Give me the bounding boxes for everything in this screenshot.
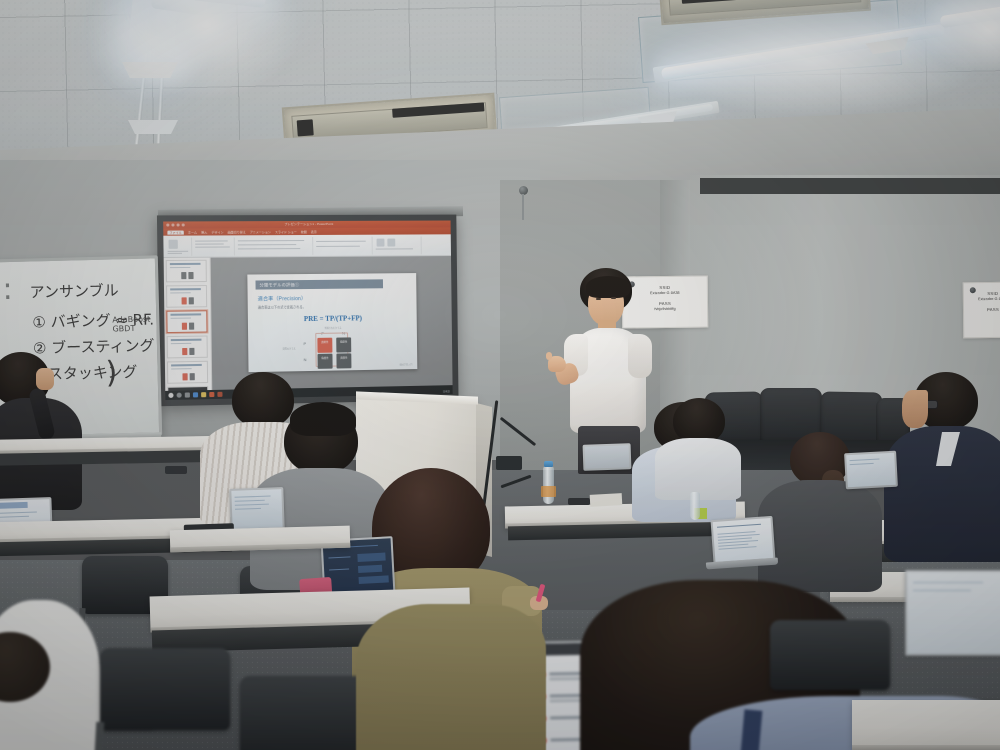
whiteboard-erased-0: SID: bbox=[0, 272, 15, 309]
ppt-slide-thumbnails[interactable] bbox=[164, 258, 213, 391]
slide-content: 分類モデルの評価① 適合率（Precision） 適合率は以下の式で定義される。… bbox=[247, 273, 417, 372]
torso bbox=[655, 438, 741, 500]
matrix-cell-fn-label: 偽陰性 bbox=[321, 357, 328, 360]
presenter-laptop[interactable] bbox=[583, 443, 632, 471]
matrix-row-header-0: P bbox=[303, 341, 306, 346]
wifi-sign-secondary: SSID Extender-G-0A38 PASS bbox=[963, 282, 1000, 339]
whiteboard-bracket-close: ) bbox=[105, 355, 118, 390]
sensor-cable bbox=[522, 194, 524, 220]
matrix-cell-tn: 真陰性 bbox=[336, 353, 351, 368]
matrix-axis-top: 予測されたクラス bbox=[324, 326, 341, 330]
ppt-thumb-4[interactable] bbox=[167, 336, 208, 359]
slide-subtext: 適合率は以下の式で定義される。 bbox=[258, 304, 306, 310]
ppt-tab-8[interactable]: 表示 bbox=[311, 229, 317, 233]
ppt-tab-3[interactable]: デザイン bbox=[211, 230, 223, 234]
classroom-photo: プレゼンテーション1 - PowerPoint ファイル ホーム 挿入 デザイン… bbox=[0, 0, 1000, 750]
ppt-window-title: プレゼンテーション1 - PowerPoint bbox=[284, 222, 333, 226]
water-bottle-1[interactable] bbox=[543, 466, 554, 504]
presenter-eye-right bbox=[611, 297, 616, 299]
desk-foreground-right bbox=[852, 700, 1000, 750]
desk-mid bbox=[170, 526, 351, 553]
paper-sheet bbox=[590, 493, 623, 507]
matrix-cell-fp-label: 偽陽性 bbox=[340, 340, 347, 343]
ppt-slide-canvas: 分類モデルの評価① 適合率（Precision） 適合率は以下の式で定義される。… bbox=[211, 256, 453, 390]
hair-top bbox=[290, 402, 356, 436]
presenter-eye-left bbox=[596, 298, 601, 300]
browser-icon[interactable] bbox=[193, 392, 198, 397]
ppt-tab-6[interactable]: スライド ショー bbox=[275, 230, 297, 234]
start-icon[interactable] bbox=[168, 393, 173, 398]
ppt-thumb-3[interactable] bbox=[166, 310, 207, 333]
slide-heading: 適合率（Precision） bbox=[258, 295, 307, 303]
water-bottle-1-cap bbox=[544, 461, 553, 467]
laptop-center-right[interactable] bbox=[711, 516, 776, 564]
audience-olive-lower bbox=[356, 604, 546, 750]
whiteboard-line-0: アンサンブル bbox=[29, 279, 118, 302]
audience-member-raising-hand bbox=[0, 340, 90, 510]
slide-footer: 機械学習入門 bbox=[400, 362, 413, 366]
face-profile bbox=[902, 390, 928, 428]
ppt-ribbon[interactable] bbox=[163, 234, 451, 258]
ppt-tab-4[interactable]: 画面切り替え bbox=[228, 230, 246, 234]
bottle-label bbox=[541, 486, 556, 497]
wifi-pass-label-2: PASS bbox=[964, 307, 1000, 313]
ppt-status-right: 日本語 bbox=[443, 389, 450, 393]
ppt-tab-2[interactable]: 挿入 bbox=[201, 230, 207, 234]
presenter-fringe bbox=[586, 276, 630, 298]
slide-title: 分類モデルの評価① bbox=[255, 279, 383, 289]
matrix-cell-fp: 偽陽性 bbox=[336, 337, 351, 352]
matrix-cell-tp-label: 真陽性 bbox=[321, 341, 328, 344]
mouse-icon[interactable] bbox=[165, 466, 187, 474]
matrix-cell-fn: 偽陰性 bbox=[318, 354, 333, 369]
taskview-icon[interactable] bbox=[185, 392, 190, 397]
confusion-matrix: 予測されたクラス 実際のクラス P N P N 真陽性 偽陽性 bbox=[310, 327, 376, 368]
ppt-tab-7[interactable]: 校閲 bbox=[301, 230, 307, 234]
desk-left-back-skirt bbox=[0, 450, 210, 466]
water-bottle-2[interactable] bbox=[690, 492, 700, 520]
pin-icon-secondary bbox=[970, 287, 976, 293]
presenter-finger bbox=[546, 352, 552, 360]
presenter-sleeve-right bbox=[628, 334, 652, 378]
search-icon[interactable] bbox=[177, 393, 182, 398]
whiteboard-annotation: AdaBoostGBDT bbox=[112, 315, 150, 334]
ppt-thumb-2[interactable] bbox=[166, 285, 207, 308]
ppt-tab-0[interactable]: ファイル bbox=[167, 230, 183, 234]
raised-hand bbox=[36, 368, 54, 390]
laptop-right-back[interactable] bbox=[844, 451, 898, 490]
laptop-mid-left[interactable] bbox=[229, 487, 284, 531]
smartphone-on-desk[interactable] bbox=[568, 498, 590, 505]
wifi-ssid-value-2: Extender-G-0A38 bbox=[964, 297, 1000, 302]
matrix-axis-left: 実際のクラス bbox=[282, 346, 295, 350]
foreground-person-strap bbox=[740, 709, 763, 750]
ppt-thumb-1[interactable] bbox=[166, 260, 207, 283]
wall-recess-shadow bbox=[700, 178, 1000, 194]
audience-member-whiteshirt-back bbox=[655, 398, 741, 498]
foreground-laptop-right[interactable] bbox=[905, 570, 1000, 656]
foreground-chair-1 bbox=[100, 648, 230, 730]
matrix-cell-tp: 真陽性 bbox=[317, 338, 332, 353]
ppt-tab-1[interactable]: ホーム bbox=[188, 230, 197, 234]
foreground-chair-3 bbox=[770, 620, 890, 690]
audience-member-suit bbox=[890, 372, 1000, 562]
ppt-tab-5[interactable]: アニメーション bbox=[250, 230, 271, 234]
matrix-cell-tn-label: 真陰性 bbox=[340, 356, 347, 359]
matrix-row-header-1: N bbox=[304, 357, 307, 362]
slide-formula: PRE = TP/(TP+FP) bbox=[304, 314, 362, 323]
